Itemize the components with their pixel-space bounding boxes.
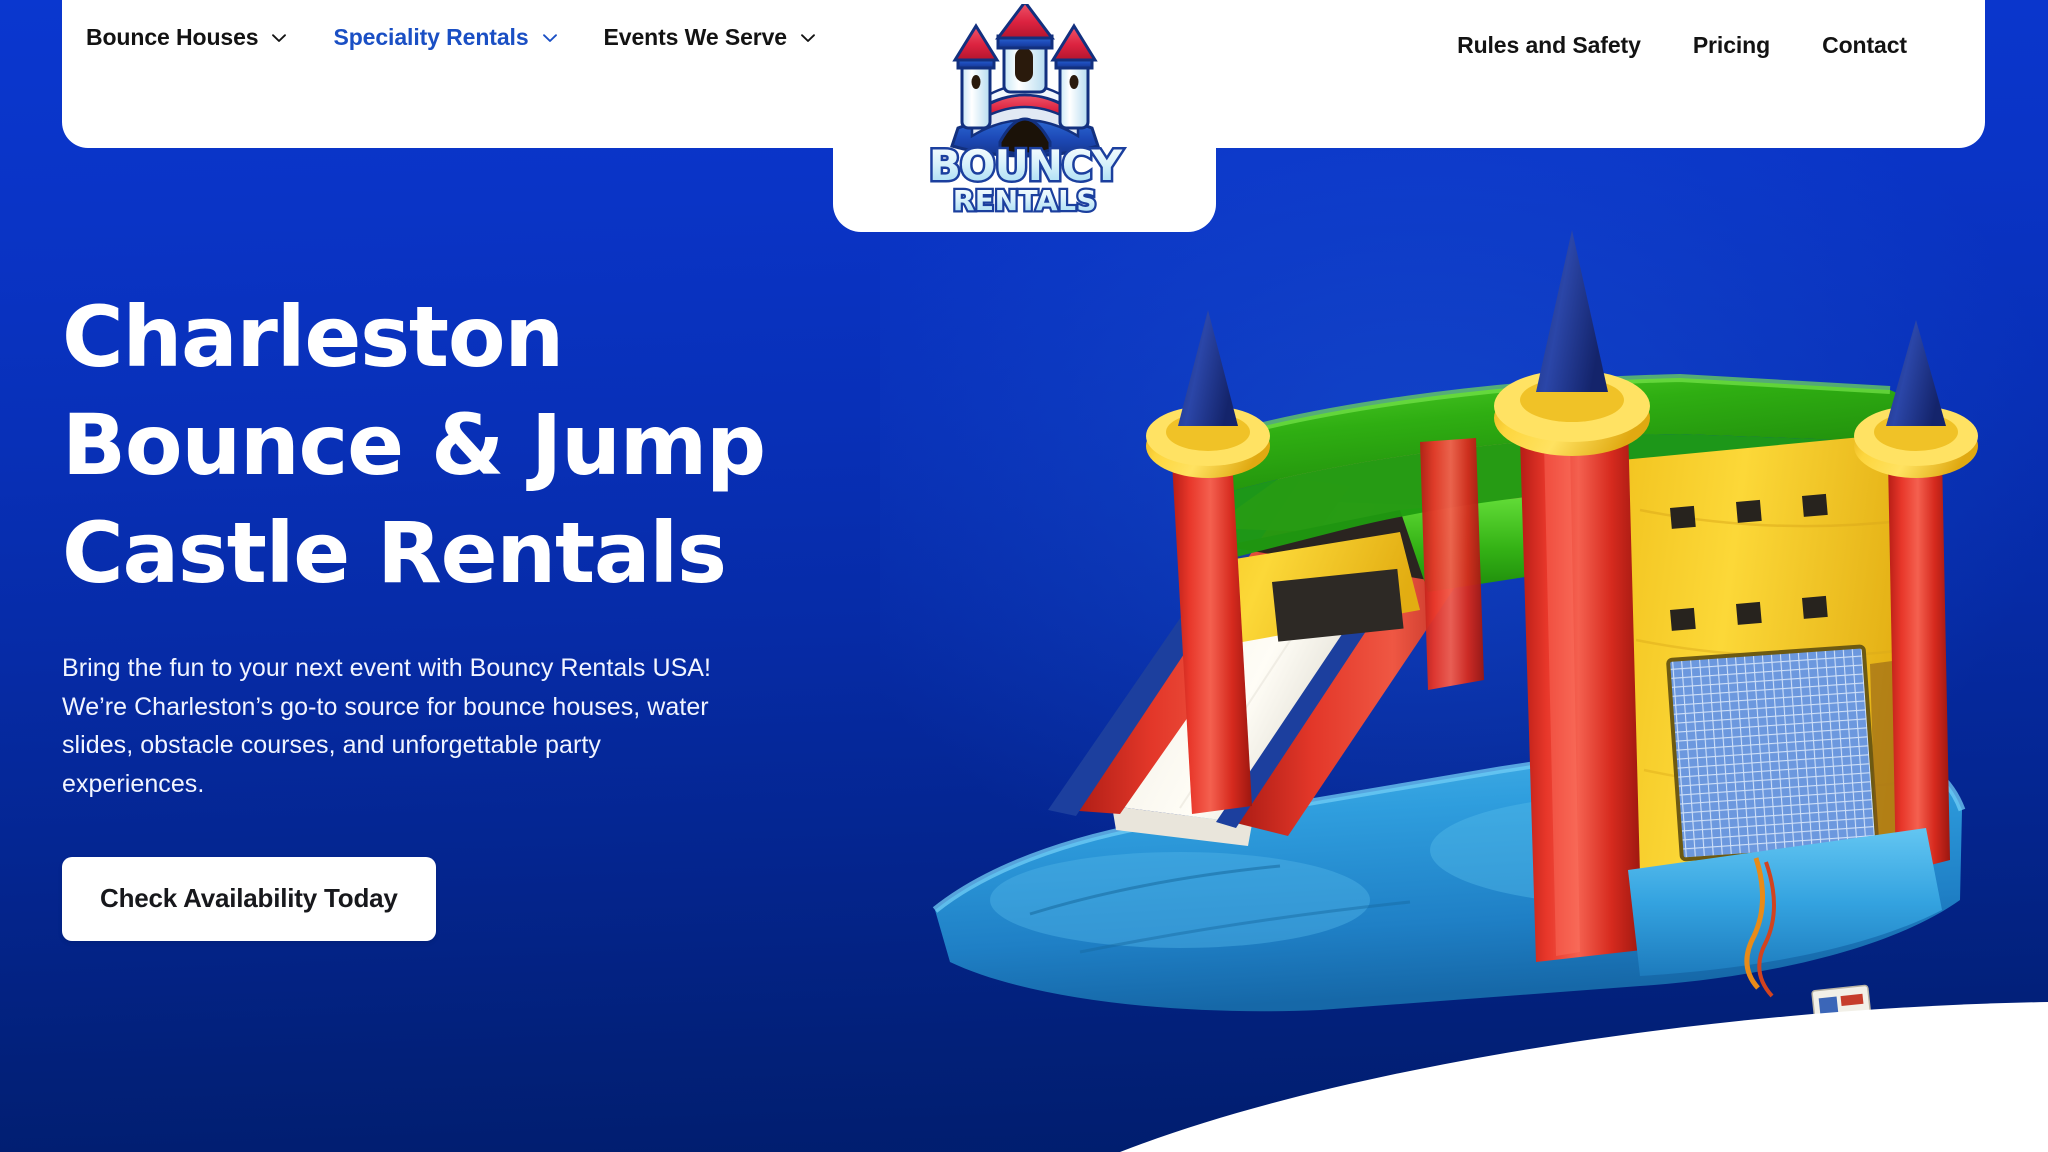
chevron-down-icon <box>269 28 289 48</box>
nav-item-label: Speciality Rentals <box>333 22 528 53</box>
hero-section: Bounce Houses Speciality Rentals Events … <box>0 0 2048 1152</box>
nav-right-group: Rules and Safety Pricing Contact <box>1457 32 1907 59</box>
hero-subtitle: Bring the fun to your next event with Bo… <box>62 649 742 804</box>
nav-left-group: Bounce Houses Speciality Rentals Events … <box>62 0 842 53</box>
turret-left <box>1146 310 1270 478</box>
pillar-center <box>1520 424 1642 962</box>
nav-item-label: Events We Serve <box>604 22 787 53</box>
bouncy-castle-logo-icon[interactable]: BOUNCY RENTALS <box>900 4 1150 219</box>
entry-step <box>1780 1028 1978 1070</box>
chevron-down-icon <box>798 28 818 48</box>
hero-bounce-house-image <box>880 210 2000 1070</box>
chevron-down-icon <box>540 28 560 48</box>
hero-heading: Charleston Bounce & Jump Castle Rentals <box>62 284 962 608</box>
nav-item-bounce-houses[interactable]: Bounce Houses <box>86 22 290 53</box>
logo-word-rentals: RENTALS <box>952 184 1096 217</box>
nav-item-speciality-rentals[interactable]: Speciality Rentals <box>333 22 559 53</box>
hero-copy-block: Charleston Bounce & Jump Castle Rentals … <box>62 284 962 941</box>
nav-item-pricing[interactable]: Pricing <box>1693 32 1770 59</box>
nav-item-contact[interactable]: Contact <box>1822 32 1907 59</box>
nav-item-rules-and-safety[interactable]: Rules and Safety <box>1457 32 1641 59</box>
pillar-right <box>1888 454 1950 874</box>
nav-item-events-we-serve[interactable]: Events We Serve <box>604 22 818 53</box>
turret-center <box>1494 230 1650 456</box>
check-availability-button[interactable]: Check Availability Today <box>62 857 436 941</box>
logo-word-bouncy: BOUNCY <box>928 141 1122 190</box>
logo-panel[interactable]: BOUNCY RENTALS <box>833 0 1216 232</box>
nav-item-label: Bounce Houses <box>86 22 259 53</box>
mesh-window <box>1668 646 1877 859</box>
